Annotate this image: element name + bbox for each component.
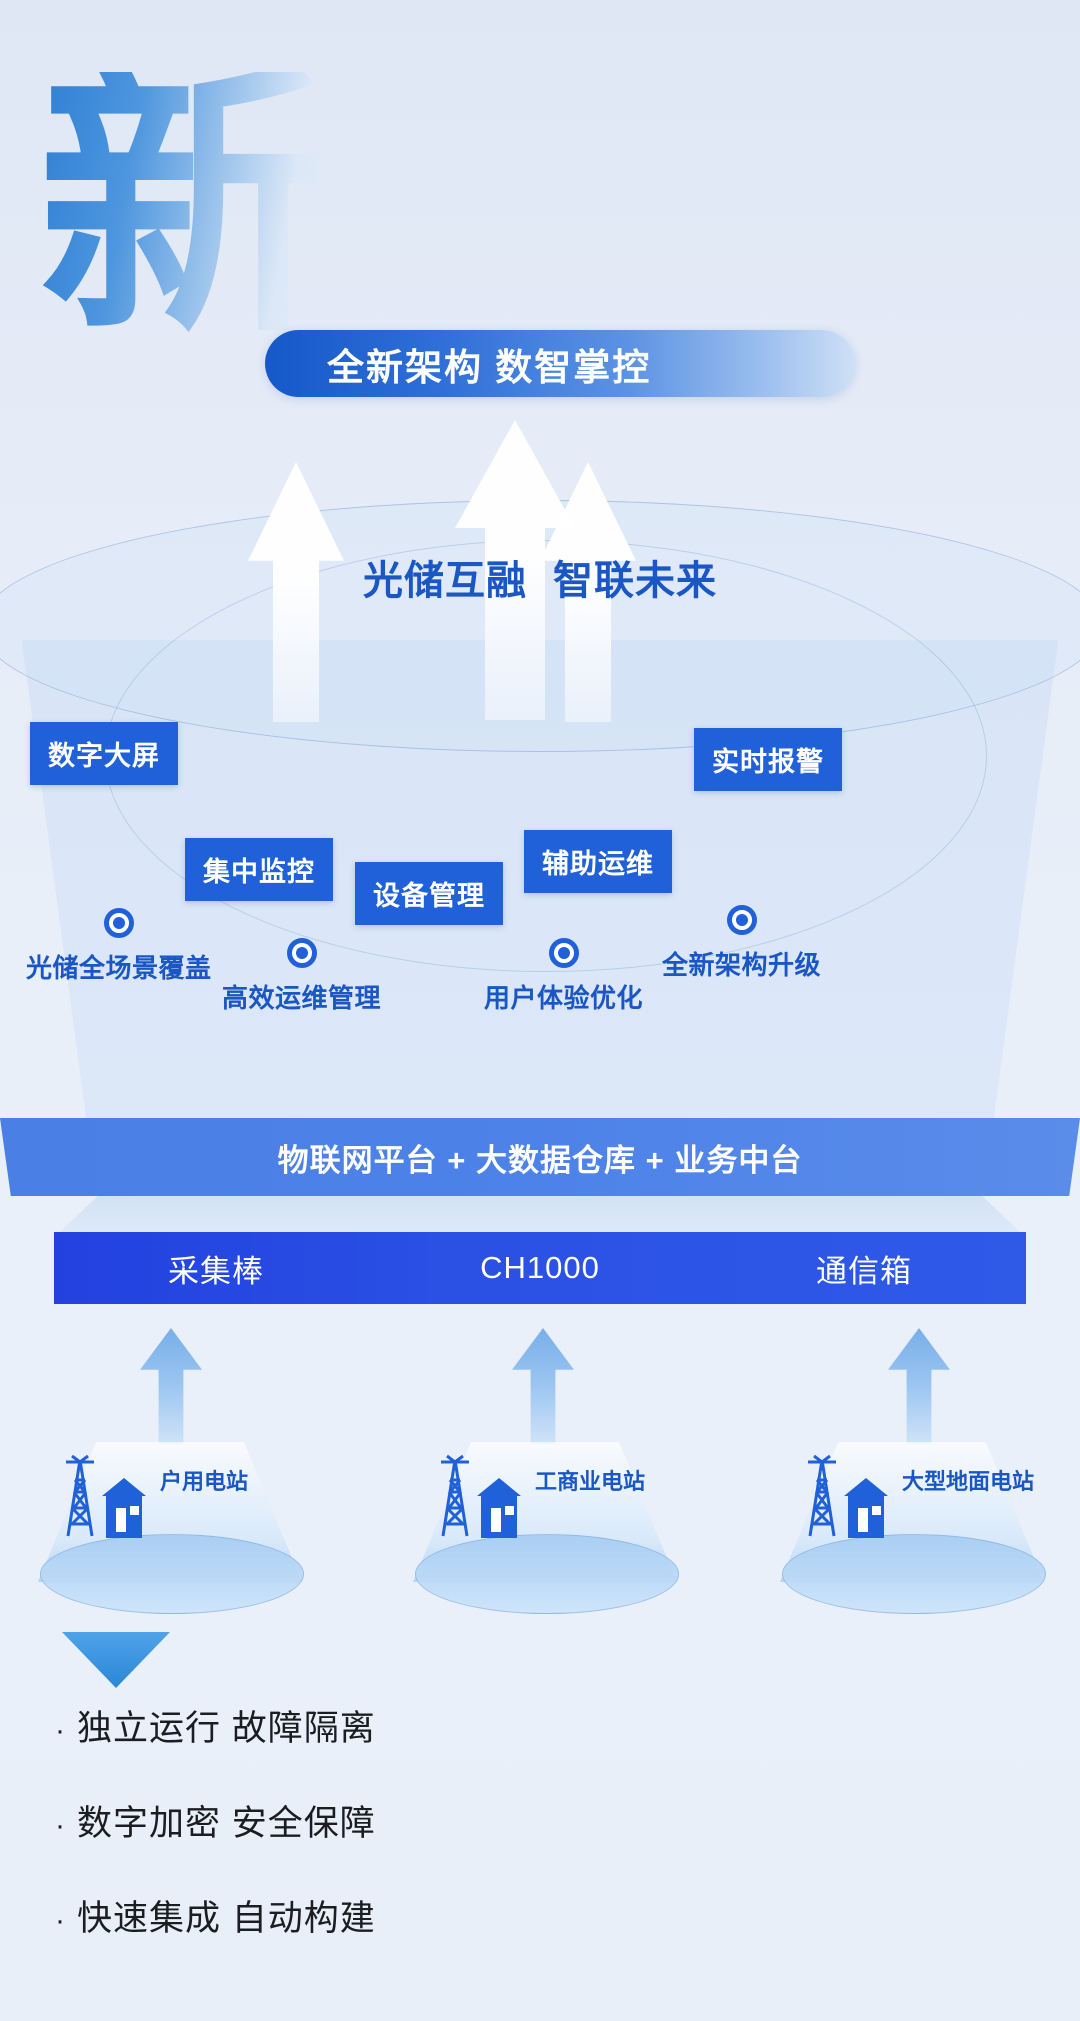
device-item-ch1000[interactable]: CH1000	[378, 1250, 702, 1286]
hero-glyph-new: 新	[38, 72, 328, 339]
bullet-text-0: 独立运行 故障隔离	[77, 1700, 376, 1751]
arrow-up-small-icon-0	[140, 1328, 202, 1444]
power-station-icon	[800, 1450, 898, 1558]
tag-digital-screen[interactable]: 数字大屏	[30, 722, 178, 785]
tag-device-management[interactable]: 设备管理	[355, 862, 503, 925]
bullet-dot-icon	[287, 938, 317, 968]
platform-bar: 物联网平台 + 大数据仓库 + 业务中台	[0, 1118, 1080, 1196]
bullet-dot-icon	[549, 938, 579, 968]
list-item: · 独立运行 故障隔离	[55, 1700, 755, 1751]
bullet-marker: ·	[55, 1714, 77, 1748]
station-item-commercial: 工商业电站	[385, 1442, 705, 1622]
feature-label-3: 全新架构升级	[662, 945, 821, 982]
station-label-1: 工商业电站	[535, 1464, 645, 1496]
device-item-comm-box[interactable]: 通信箱	[702, 1246, 1026, 1291]
bottom-bullet-list: · 独立运行 故障隔离 · 数字加密 安全保障 · 快速集成 自动构建	[55, 1700, 755, 1985]
tag-realtime-alarm[interactable]: 实时报警	[694, 728, 842, 791]
bullet-dot-icon	[104, 908, 134, 938]
infographic-poster: 新 全新架构 数智掌控 光储互融智联未来 数字大屏 集中监控 设备管理 辅助运维…	[0, 0, 1080, 2021]
list-item: · 快速集成 自动构建	[55, 1890, 755, 1941]
feature-label-1: 高效运维管理	[222, 978, 381, 1015]
power-station-icon	[58, 1450, 156, 1558]
feature-item-1: 高效运维管理	[222, 938, 381, 1015]
hero-banner: 全新架构 数智掌控	[265, 330, 855, 397]
device-item-collector[interactable]: 采集棒	[54, 1246, 378, 1291]
bullet-marker: ·	[55, 1904, 77, 1938]
station-label-0: 户用电站	[160, 1464, 248, 1496]
bullet-text-1: 数字加密 安全保障	[77, 1795, 376, 1846]
feature-item-2: 用户体验优化	[484, 938, 643, 1015]
feature-item-3: 全新架构升级	[662, 905, 821, 982]
arrow-up-small-icon-1	[512, 1328, 574, 1444]
tag-assisted-ops[interactable]: 辅助运维	[524, 830, 672, 893]
hub-title-right: 智联未来	[553, 559, 717, 603]
hub-title-left: 光储互融	[363, 559, 527, 603]
feature-label-2: 用户体验优化	[484, 978, 643, 1015]
tag-central-monitoring[interactable]: 集中监控	[185, 838, 333, 901]
bullet-marker: ·	[55, 1809, 77, 1843]
power-station-icon	[433, 1450, 531, 1558]
list-item: · 数字加密 安全保障	[55, 1795, 755, 1846]
device-bar: 采集棒 CH1000 通信箱	[54, 1232, 1026, 1304]
station-item-residential: 户用电站	[10, 1442, 330, 1622]
hub-title: 光储互融智联未来	[0, 548, 1080, 606]
arrow-up-small-icon-2	[888, 1328, 950, 1444]
arrow-down-icon	[62, 1632, 170, 1688]
feature-label-0: 光储全场景覆盖	[26, 948, 212, 985]
bullet-text-2: 快速集成 自动构建	[77, 1890, 376, 1941]
station-label-2: 大型地面电站	[902, 1464, 1034, 1496]
station-item-utility: 大型地面电站	[752, 1442, 1072, 1622]
hero-banner-text: 全新架构 数智掌控	[327, 337, 651, 391]
bullet-dot-icon	[727, 905, 757, 935]
feature-item-0: 光储全场景覆盖	[26, 908, 212, 985]
platform-bar-label: 物联网平台 + 大数据仓库 + 业务中台	[278, 1135, 803, 1180]
